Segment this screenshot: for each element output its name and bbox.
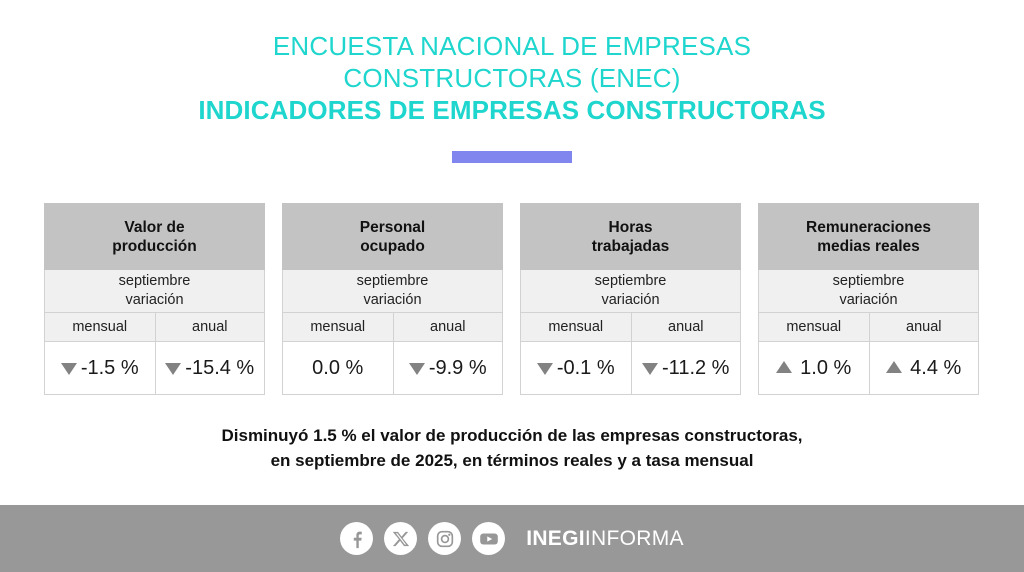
column-header-mensual: mensual <box>283 313 393 341</box>
card-title-line-2: producción <box>50 237 259 256</box>
youtube-icon[interactable] <box>472 522 505 555</box>
footer-brand-regular: INFORMA <box>585 527 684 550</box>
value-cell-mensual: 1.0 % <box>759 342 869 394</box>
page-title-line-3: INDICADORES DE EMPRESAS CONSTRUCTORAS <box>0 94 1024 126</box>
value-cell-mensual: -1.5 % <box>45 342 155 394</box>
card-period: septiembre variación <box>520 270 741 313</box>
page-title-line-2: CONSTRUCTORAS (ENEC) <box>0 62 1024 94</box>
summary-caption-line-2: en septiembre de 2025, en términos reale… <box>0 448 1024 473</box>
footer-bar: INEGIINFORMA <box>0 505 1024 572</box>
card-title-line-1: Horas <box>526 218 735 237</box>
column-header-mensual: mensual <box>759 313 869 341</box>
card-values: -0.1 % -11.2 % <box>520 342 741 395</box>
card-column-headers: mensual anual <box>520 313 741 342</box>
trend-arrow-icon <box>165 363 181 375</box>
column-header-mensual: mensual <box>521 313 631 341</box>
page-title-block: ENCUESTA NACIONAL DE EMPRESAS CONSTRUCTO… <box>0 0 1024 126</box>
card-period-line-1: septiembre <box>763 272 974 291</box>
card-title-line-1: Valor de <box>50 218 259 237</box>
title-divider-bar <box>452 151 572 163</box>
column-header-anual: anual <box>869 313 979 341</box>
column-header-anual: anual <box>155 313 265 341</box>
card-period-line-1: septiembre <box>287 272 498 291</box>
card-period: septiembre variación <box>758 270 979 313</box>
value-mensual: 1.0 % <box>800 357 851 380</box>
card-title: Remuneraciones medias reales <box>758 203 979 270</box>
value-anual: -15.4 % <box>185 357 254 380</box>
column-header-mensual: mensual <box>45 313 155 341</box>
value-anual: -11.2 % <box>662 357 729 380</box>
instagram-icon[interactable] <box>428 522 461 555</box>
title-divider-wrap <box>0 151 1024 163</box>
card-column-headers: mensual anual <box>758 313 979 342</box>
card-column-headers: mensual anual <box>282 313 503 342</box>
card-period-line-2: variación <box>49 291 260 310</box>
value-mensual: -1.5 % <box>81 357 139 380</box>
footer-brand: INEGIINFORMA <box>526 527 684 551</box>
indicator-card-valor-de-produccion: Valor de producción septiembre variación… <box>44 203 265 395</box>
card-column-headers: mensual anual <box>44 313 265 342</box>
value-anual: 4.4 % <box>910 357 961 380</box>
value-cell-anual: -11.2 % <box>631 342 741 394</box>
card-period-line-2: variación <box>763 291 974 310</box>
card-title: Horas trabajadas <box>520 203 741 270</box>
indicator-card-horas-trabajadas: Horas trabajadas septiembre variación me… <box>520 203 741 395</box>
card-period: septiembre variación <box>44 270 265 313</box>
footer-brand-bold: INEGI <box>526 527 585 550</box>
value-cell-mensual: -0.1 % <box>521 342 631 394</box>
indicator-card-remuneraciones-medias-reales: Remuneraciones medias reales septiembre … <box>758 203 979 395</box>
card-period-line-2: variación <box>287 291 498 310</box>
card-title-line-2: ocupado <box>288 237 497 256</box>
trend-arrow-icon <box>409 363 425 375</box>
value-mensual: 0.0 % <box>312 357 363 380</box>
summary-caption: Disminuyó 1.5 % el valor de producción d… <box>0 423 1024 473</box>
card-period-line-1: septiembre <box>525 272 736 291</box>
card-period-line-1: septiembre <box>49 272 260 291</box>
trend-arrow-icon <box>537 363 553 375</box>
card-title: Valor de producción <box>44 203 265 270</box>
card-title: Personal ocupado <box>282 203 503 270</box>
trend-arrow-icon <box>886 361 902 373</box>
facebook-icon[interactable] <box>340 522 373 555</box>
value-cell-anual: 4.4 % <box>869 342 979 394</box>
card-values: -1.5 % -15.4 % <box>44 342 265 395</box>
card-period-line-2: variación <box>525 291 736 310</box>
card-period: septiembre variación <box>282 270 503 313</box>
trend-arrow-icon <box>642 363 658 375</box>
column-header-anual: anual <box>631 313 741 341</box>
card-title-line-1: Remuneraciones <box>764 218 973 237</box>
value-cell-anual: -9.9 % <box>393 342 503 394</box>
value-anual: -9.9 % <box>429 357 487 380</box>
value-cell-anual: -15.4 % <box>155 342 265 394</box>
card-title-line-2: trabajadas <box>526 237 735 256</box>
x-twitter-icon[interactable] <box>384 522 417 555</box>
summary-caption-line-1: Disminuyó 1.5 % el valor de producción d… <box>0 423 1024 448</box>
card-title-line-1: Personal <box>288 218 497 237</box>
column-header-anual: anual <box>393 313 503 341</box>
card-title-line-2: medias reales <box>764 237 973 256</box>
trend-arrow-icon <box>776 361 792 373</box>
value-mensual: -0.1 % <box>557 357 615 380</box>
indicator-cards-row: Valor de producción septiembre variación… <box>44 203 981 395</box>
page-title-line-1: ENCUESTA NACIONAL DE EMPRESAS <box>0 30 1024 62</box>
trend-arrow-icon <box>61 363 77 375</box>
card-values: 0.0 % -9.9 % <box>282 342 503 395</box>
card-values: 1.0 % 4.4 % <box>758 342 979 395</box>
value-cell-mensual: 0.0 % <box>283 342 393 394</box>
indicator-card-personal-ocupado: Personal ocupado septiembre variación me… <box>282 203 503 395</box>
